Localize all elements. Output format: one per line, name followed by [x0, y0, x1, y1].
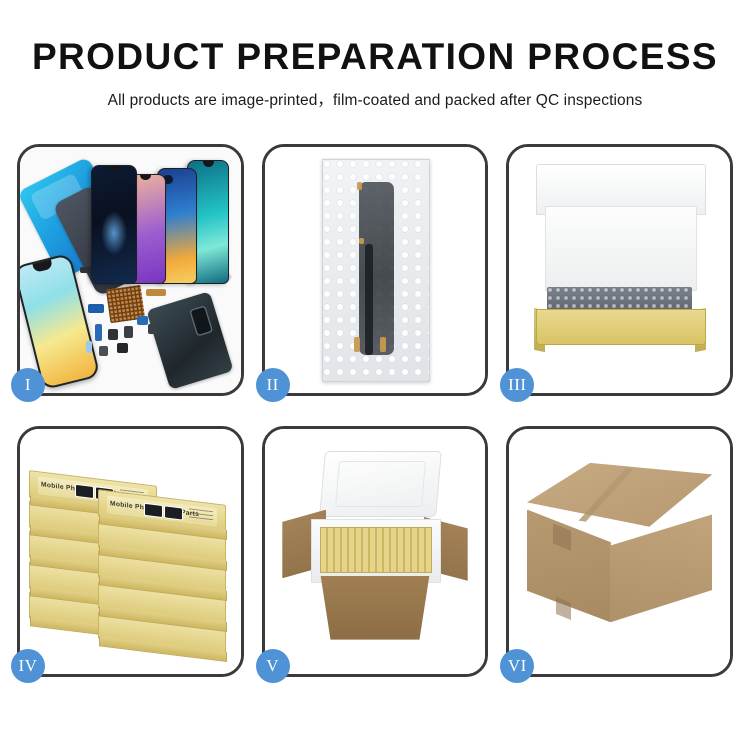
mailer-box-icon [536, 309, 706, 345]
step-image-2 [265, 147, 486, 393]
screen-thumb-icon [75, 484, 94, 499]
phone-lineup [88, 157, 234, 285]
step-image-6 [509, 429, 730, 675]
step-panel-2[interactable]: II [262, 144, 489, 396]
step-badge-1: I [11, 368, 45, 402]
part-icon [99, 346, 108, 356]
part-icon [148, 324, 157, 334]
step-panel-4[interactable]: Mobile Phone Spare Parts Mobile Phone Sp… [17, 426, 244, 678]
box-stack: Mobile Phone Spare Parts Mobile Phone Sp… [29, 458, 232, 654]
screen-thumb-icon [164, 506, 183, 521]
part-icon [86, 341, 92, 353]
step-panel-5[interactable]: V [262, 426, 489, 678]
page-title: PRODUCT PREPARATION PROCESS [0, 38, 750, 77]
part-icon [88, 304, 103, 313]
step-badge-4: IV [11, 649, 45, 683]
process-steps-grid: I II [17, 144, 733, 677]
step-image-4: Mobile Phone Spare Parts Mobile Phone Sp… [20, 429, 241, 675]
screen-thumb-icon [144, 503, 163, 518]
step-panel-1[interactable]: I [17, 144, 244, 396]
bubble-wrap-bag-icon [322, 159, 430, 382]
step-badge-3: III [500, 368, 534, 402]
label-spec-lines [188, 508, 212, 523]
page-subtitle: All products are image-printed，film-coat… [0, 88, 750, 110]
page-header: PRODUCT PREPARATION PROCESS All products… [0, 0, 750, 110]
step-badge-6: VI [500, 649, 534, 683]
flex-cable-icon [365, 244, 372, 354]
part-icon [108, 329, 118, 340]
tape-icon [357, 182, 362, 190]
step-image-1 [20, 147, 241, 393]
step-panel-3[interactable]: III [506, 144, 733, 396]
phone-icon-1 [91, 165, 137, 284]
carton-top-icon [527, 463, 712, 527]
retail-box-icon-top-right: Mobile Phone Spare Parts [98, 489, 226, 532]
tape-icon [354, 337, 360, 352]
step-image-3 [509, 147, 730, 393]
step-badge-5: V [256, 649, 290, 683]
tape-icon [380, 337, 386, 352]
part-icon [95, 324, 102, 341]
step-badge-2: II [256, 368, 290, 402]
part-icon [117, 343, 128, 353]
foam-lid-icon [319, 451, 441, 517]
tape-icon [359, 238, 364, 245]
step-image-5 [265, 429, 486, 675]
foam-padding-icon [545, 206, 697, 291]
screen-icon [359, 182, 394, 354]
phone-housing-icon [146, 291, 234, 390]
carton-body-icon [313, 576, 437, 640]
part-icon [146, 289, 166, 295]
part-icon [124, 326, 133, 338]
part-icon [137, 316, 148, 325]
step-panel-6[interactable]: VI [506, 426, 733, 678]
carton-right-face-icon [610, 514, 713, 622]
packed-boxes-icon [320, 527, 432, 573]
